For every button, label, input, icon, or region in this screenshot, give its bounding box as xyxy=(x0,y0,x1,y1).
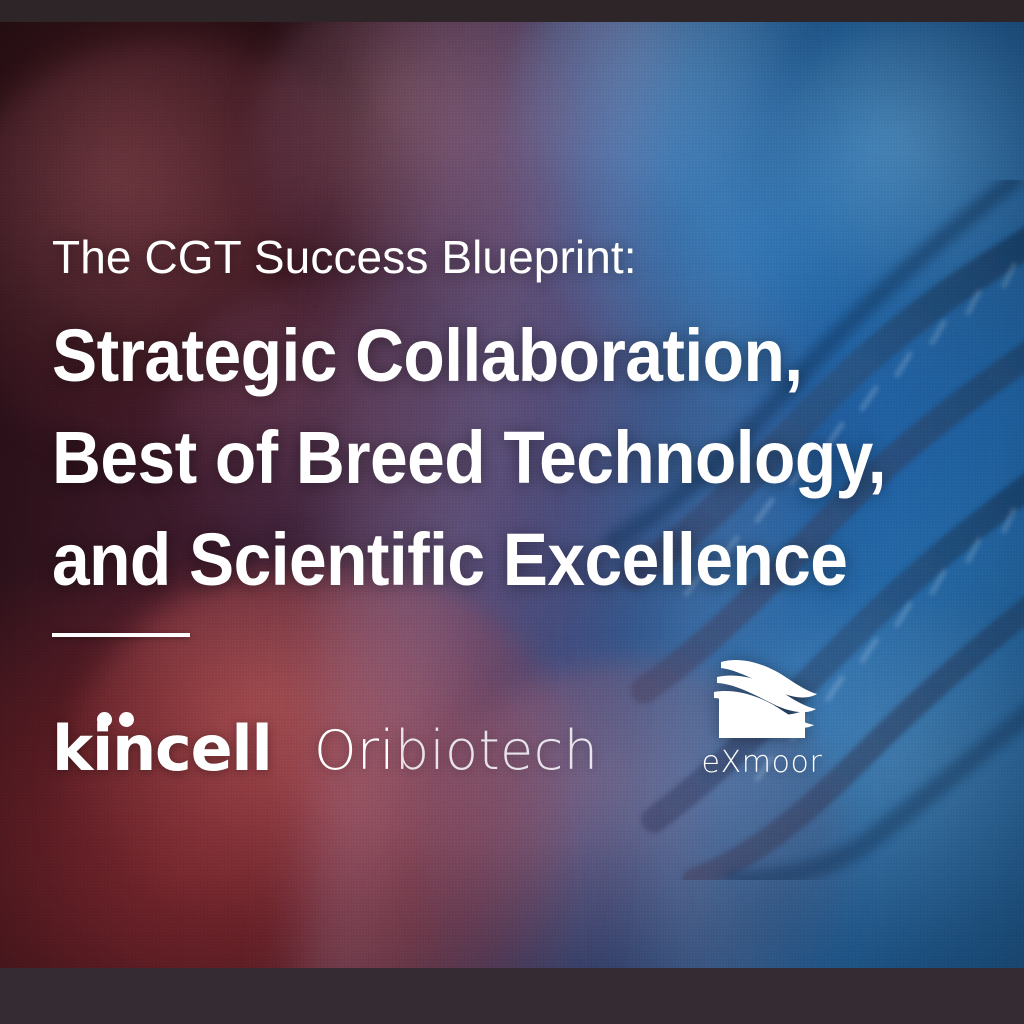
divider-rule xyxy=(52,633,190,637)
headline: Strategic Collaboration, Best of Breed T… xyxy=(52,305,1012,611)
slide-canvas: The CGT Success Blueprint: Strategic Col… xyxy=(0,0,1024,1024)
top-bar xyxy=(0,0,1024,22)
exmoor-wordmark: eXmoor xyxy=(677,748,847,778)
headline-line-2: Best of Breed Technology, xyxy=(52,407,930,509)
exmoor-waves-icon xyxy=(697,650,827,740)
eyebrow-text: The CGT Success Blueprint: xyxy=(52,233,637,281)
kincell-wordmark: kincell xyxy=(52,712,272,785)
partner-logo-row: kincell Oribiotech xyxy=(52,640,1012,800)
kincell-diaeresis-icon xyxy=(97,712,143,728)
logo-oribiotech[interactable]: Oribiotech xyxy=(314,724,598,778)
logo-kincell[interactable]: kincell xyxy=(52,718,272,780)
oribiotech-wordmark: Oribiotech xyxy=(314,719,598,782)
bottom-bar xyxy=(0,968,1024,1024)
oribiotech-wordmark-lead: Ori xyxy=(314,719,395,782)
content-block: The CGT Success Blueprint: Strategic Col… xyxy=(52,0,1012,1024)
headline-line-3: and Scientific Excellence xyxy=(52,509,930,611)
oribiotech-wordmark-tail: biotech xyxy=(395,719,598,782)
headline-line-1: Strategic Collaboration, xyxy=(52,305,930,407)
logo-exmoor[interactable]: eXmoor xyxy=(677,650,847,778)
